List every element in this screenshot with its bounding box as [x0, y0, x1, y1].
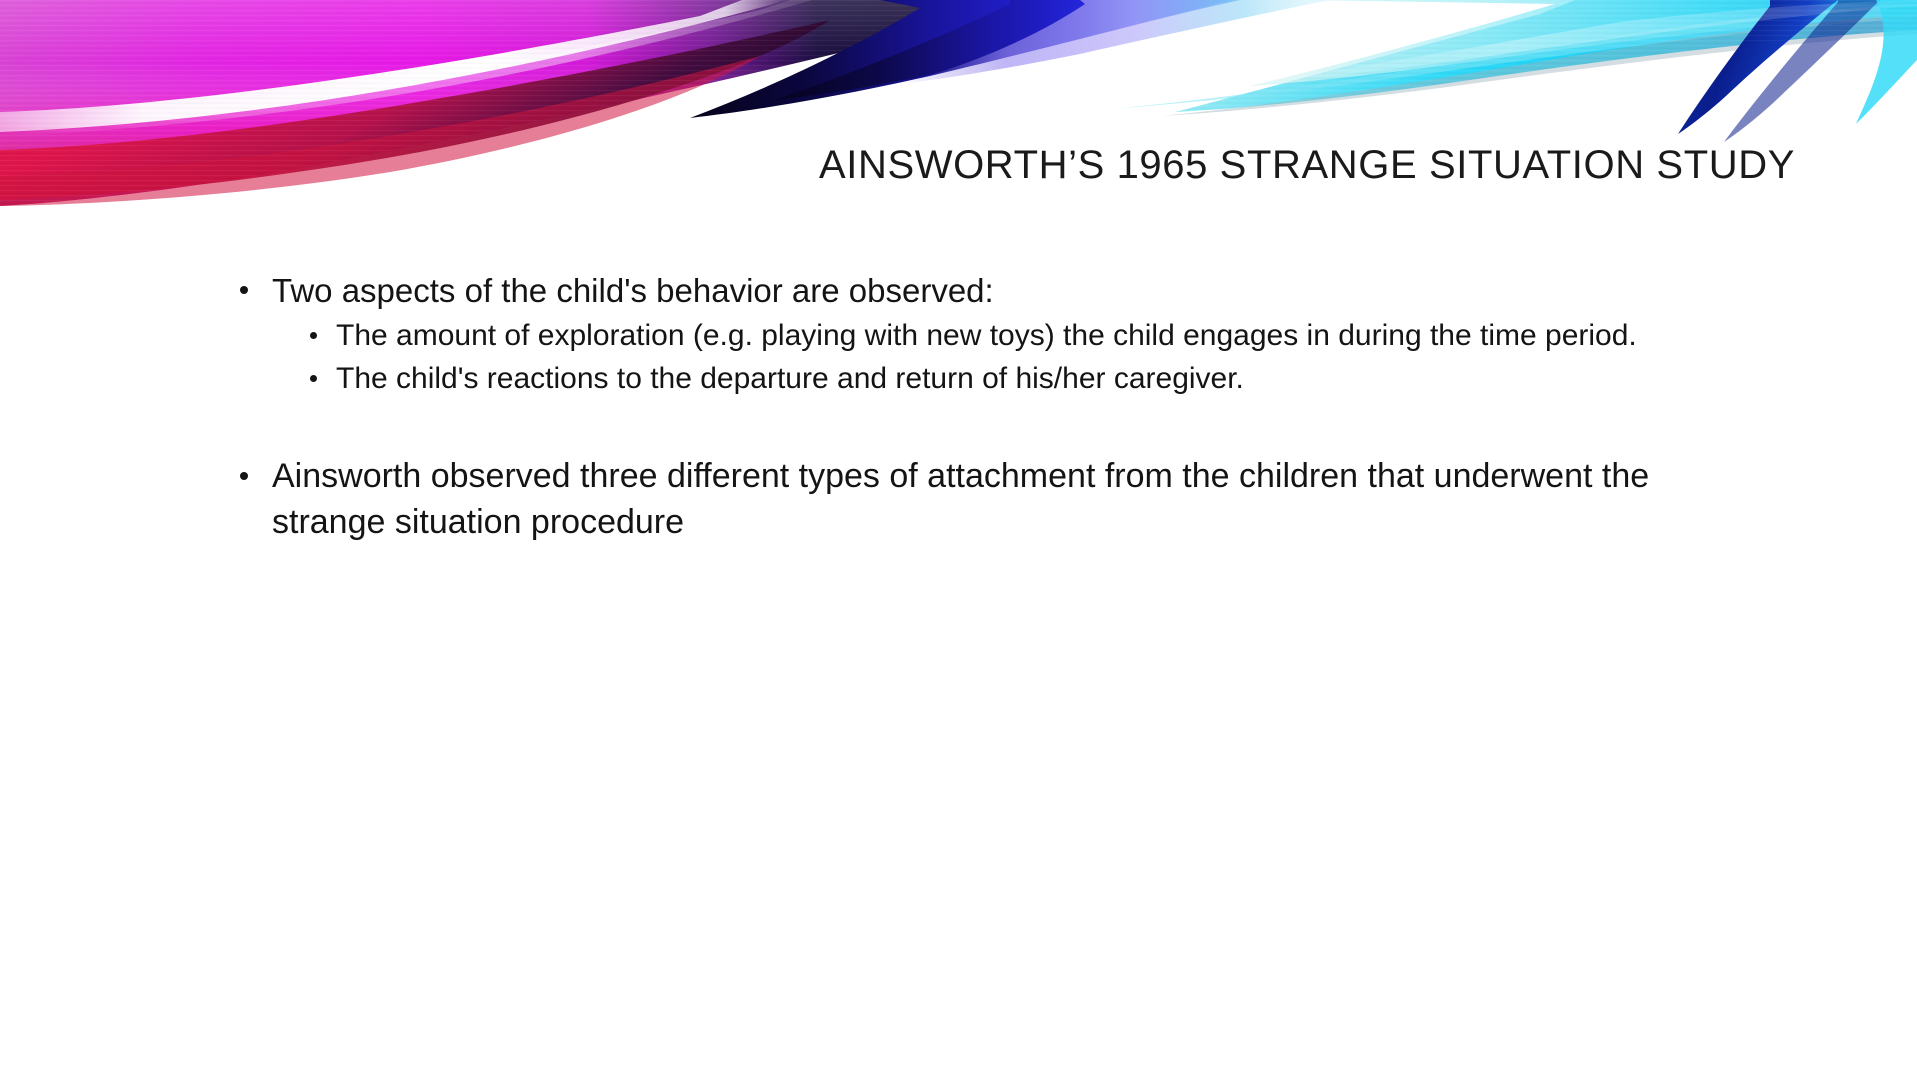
sub-bullet-text: The amount of exploration (e.g. playing …	[336, 319, 1637, 352]
sub-bullet-list: The amount of exploration (e.g. playing …	[232, 315, 1652, 400]
bullet-text: Ainsworth observed three different types…	[272, 457, 1649, 541]
slide-body: Two aspects of the child's behavior are …	[232, 268, 1652, 547]
sub-bullet-item-1: The amount of exploration (e.g. playing …	[306, 315, 1652, 357]
bullet-item-2: Ainsworth observed three different types…	[232, 453, 1652, 545]
bullet-dot-icon	[310, 332, 317, 339]
slide-title: AINSWORTH’S 1965 STRANGE SITUATION STUDY	[735, 142, 1795, 188]
sub-bullet-item-2: The child's reactions to the departure a…	[306, 358, 1652, 400]
paragraph-spacer	[232, 401, 1652, 453]
bullet-item-1: Two aspects of the child's behavior are …	[232, 268, 1652, 313]
presentation-slide: AINSWORTH’S 1965 STRANGE SITUATION STUDY…	[0, 0, 1917, 1080]
bullet-dot-icon	[310, 375, 317, 382]
bullet-text: Two aspects of the child's behavior are …	[272, 272, 994, 309]
sub-bullet-text: The child's reactions to the departure a…	[336, 362, 1244, 395]
wave-banner-graphic	[0, 0, 1917, 240]
bullet-dot-icon	[240, 472, 248, 480]
bullet-dot-icon	[240, 286, 248, 294]
